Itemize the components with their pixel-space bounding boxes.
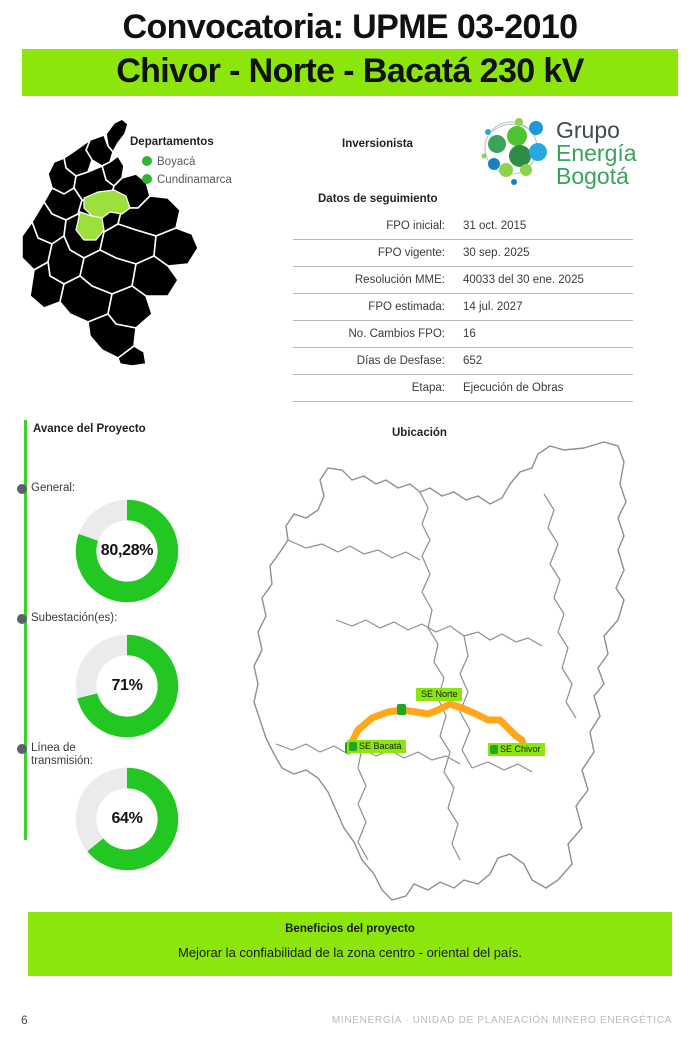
beneficios-title: Beneficios del proyecto	[28, 923, 672, 935]
table-row: Días de Desfase: 652	[293, 348, 633, 375]
ubicacion-title: Ubicación	[392, 427, 447, 439]
donut-value-label: 71%	[73, 632, 181, 740]
table-row: No. Cambios FPO: 16	[293, 321, 633, 348]
row-key: Etapa:	[293, 375, 455, 402]
slide-page: Convocatoria: UPME 03-2010 Chivor - Nort…	[0, 0, 700, 1049]
bullet-icon	[17, 484, 27, 494]
title-project-name: Chivor - Norte - Bacatá 230 kV	[22, 51, 678, 91]
grupo-energia-bogota-logo: Grupo Energía Bogotá	[464, 112, 650, 190]
row-key: FPO inicial:	[293, 213, 455, 240]
title-highlight-band: Chivor - Norte - Bacatá 230 kV	[22, 49, 678, 96]
colombia-map	[18, 116, 218, 366]
se-norte-label: SE Norte	[421, 689, 458, 699]
row-value: 14 jul. 2027	[455, 294, 633, 321]
svg-text:Bogotá: Bogotá	[556, 163, 629, 189]
ubicacion-region-map	[232, 440, 698, 910]
departamentos-block: Departamentos Boyacá Cundinamarca	[18, 116, 278, 366]
datos-seguimiento-table: FPO inicial: 31 oct. 2015 FPO vigente: 3…	[293, 213, 633, 402]
departamento-item-boyaca: Boyacá	[142, 156, 195, 168]
row-key: FPO vigente:	[293, 240, 455, 267]
table-row: FPO estimada: 14 jul. 2027	[293, 294, 633, 321]
departamento-item-cundinamarca: Cundinamarca	[142, 174, 232, 186]
table-row: Etapa: Ejecución de Obras	[293, 375, 633, 402]
departamento-label: Boyacá	[157, 156, 195, 168]
map-label-se-norte: SE Norte	[416, 688, 462, 701]
donut-chart-linea-transmision: 64%	[73, 765, 181, 873]
map-label-se-chivor: SE Chivor	[488, 743, 545, 756]
table-row: FPO vigente: 30 sep. 2025	[293, 240, 633, 267]
row-value: 652	[455, 348, 633, 375]
row-value: 16	[455, 321, 633, 348]
avance-title: Avance del Proyecto	[33, 423, 146, 435]
departamento-label: Cundinamarca	[157, 174, 232, 186]
se-chivor-label: SE Chivor	[500, 744, 541, 754]
bullet-icon	[17, 744, 27, 754]
avance-item-label-text: Subestación(es):	[31, 612, 117, 625]
logo-dots	[482, 118, 548, 185]
datos-seguimiento-title: Datos de seguimiento	[318, 193, 438, 205]
station-pin-icon	[490, 745, 498, 754]
bullet-icon	[17, 614, 27, 624]
row-value: 30 sep. 2025	[455, 240, 633, 267]
row-key: Resolución MME:	[293, 267, 455, 294]
row-key: Días de Desfase:	[293, 348, 455, 375]
row-key: No. Cambios FPO:	[293, 321, 455, 348]
department-marker-icon	[142, 156, 152, 166]
avance-label-subestaciones: Subestación(es):	[17, 612, 117, 625]
donut-value-label: 80,28%	[73, 497, 181, 605]
beneficios-text: Mejorar la confiabilidad de la zona cent…	[28, 945, 672, 960]
donut-chart-general: 80,28%	[73, 497, 181, 605]
row-value: 31 oct. 2015	[455, 213, 633, 240]
map-label-se-bacata: SE Bacatá	[347, 740, 406, 753]
avance-label-general: General:	[17, 482, 75, 495]
department-marker-icon	[142, 174, 152, 184]
row-key: FPO estimada:	[293, 294, 455, 321]
station-pin-icon	[349, 742, 357, 751]
donut-value-label: 64%	[73, 765, 181, 873]
avance-item-label-text: General:	[31, 482, 75, 495]
footer-text: MINENERGÍA · UNIDAD DE PLANEACIÓN MINERO…	[0, 1015, 690, 1026]
beneficios-panel: Beneficios del proyecto Mejorar la confi…	[28, 912, 672, 976]
table-row: Resolución MME: 40033 del 30 ene. 2025	[293, 267, 633, 294]
inversionista-label: Inversionista	[342, 138, 413, 150]
row-value: 40033 del 30 ene. 2025	[455, 267, 633, 294]
table-row: FPO inicial: 31 oct. 2015	[293, 213, 633, 240]
page-title: Convocatoria: UPME 03-2010 Chivor - Nort…	[22, 6, 678, 96]
title-convocatoria: Convocatoria: UPME 03-2010	[22, 6, 678, 48]
row-value: Ejecución de Obras	[455, 375, 633, 402]
departamentos-title: Departamentos	[130, 136, 214, 148]
donut-chart-subestaciones: 71%	[73, 632, 181, 740]
se-bacata-label: SE Bacatá	[359, 741, 402, 751]
station-marker-norte	[397, 704, 406, 715]
